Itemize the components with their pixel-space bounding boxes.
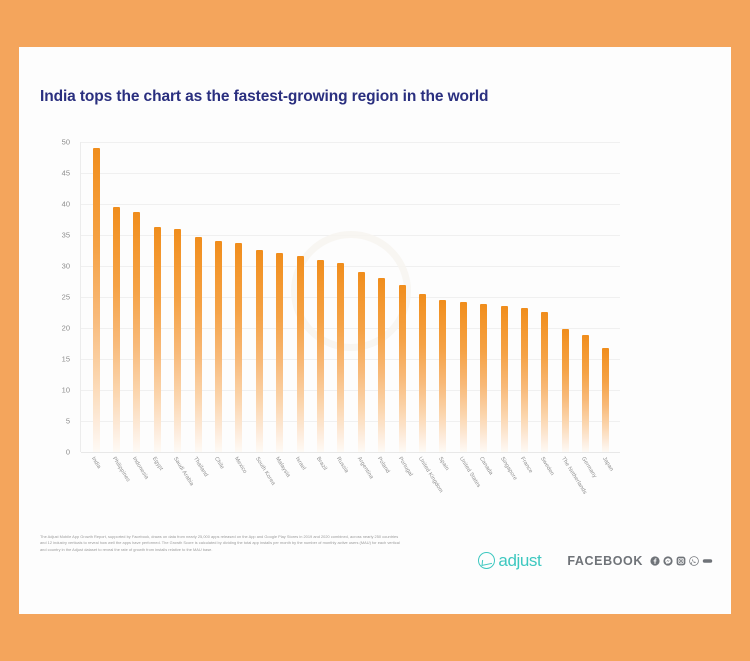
x-axis-tick-label: Japan <box>601 456 614 473</box>
adjust-logo-icon <box>478 552 495 569</box>
y-axis: 50454035302520151050 <box>40 142 76 452</box>
bar-slot <box>535 142 555 452</box>
bar-slot <box>147 142 167 452</box>
bar[interactable] <box>582 335 589 452</box>
bar-slot <box>433 142 453 452</box>
x-axis-label-slot: Chile <box>208 454 228 516</box>
x-axis-tick-label: France <box>519 456 534 474</box>
bar[interactable] <box>215 241 222 452</box>
y-axis-tick-label: 45 <box>62 169 70 178</box>
bar-slot <box>249 142 269 452</box>
x-axis-label-slot: Brazil <box>310 454 330 516</box>
y-axis-tick-label: 30 <box>62 262 70 271</box>
y-axis-tick-label: 15 <box>62 355 70 364</box>
bar-slot <box>86 142 106 452</box>
bar-slot <box>392 142 412 452</box>
facebook-logo: FACEBOOK <box>567 554 713 568</box>
x-axis-label-slot: Sweden <box>534 454 554 516</box>
x-axis-label-slot: Egypt <box>146 454 166 516</box>
bar-slot <box>453 142 473 452</box>
chart-plot-area: 50454035302520151050 IndiaPhilippinesInd… <box>40 142 620 472</box>
bar-slot <box>229 142 249 452</box>
x-axis-label-slot: Portugal <box>391 454 411 516</box>
x-axis-tick-label: Portugal <box>396 456 413 478</box>
x-axis-tick-label: Israel <box>294 456 307 471</box>
bar[interactable] <box>297 256 304 452</box>
bar[interactable] <box>602 348 609 452</box>
bar[interactable] <box>501 306 508 452</box>
facebook-wordmark: FACEBOOK <box>567 554 643 568</box>
bar[interactable] <box>480 304 487 452</box>
bar-slot <box>371 142 391 452</box>
x-axis-label-slot: Indonesia <box>126 454 146 516</box>
bar[interactable] <box>276 253 283 452</box>
bar[interactable] <box>317 260 324 452</box>
bar-slot <box>514 142 534 452</box>
x-axis-tick-label: Brazil <box>315 456 328 472</box>
whatsapp-icon <box>689 556 699 566</box>
facebook-icon <box>650 556 660 566</box>
bar-slot <box>331 142 351 452</box>
x-axis-label-slot: Thailand <box>187 454 207 516</box>
bar-slot <box>596 142 616 452</box>
y-axis-tick-label: 40 <box>62 200 70 209</box>
x-axis-tick-label: Canada <box>478 456 494 476</box>
bar-slot <box>168 142 188 452</box>
y-axis-tick-label: 50 <box>62 138 70 147</box>
adjust-wordmark: adjust <box>498 552 541 569</box>
x-axis-label-slot: Argentina <box>350 454 370 516</box>
bar-slot <box>127 142 147 452</box>
x-axis-label-slot: Russia <box>330 454 350 516</box>
x-axis-tick-label: Mexico <box>233 456 248 475</box>
gridline <box>81 452 620 453</box>
bar-slot <box>270 142 290 452</box>
brand-logos: adjust FACEBOOK <box>478 552 713 569</box>
x-axis-label-slot: United Kingdom <box>412 454 432 516</box>
bar-slot <box>290 142 310 452</box>
y-axis-tick-label: 25 <box>62 293 70 302</box>
bar[interactable] <box>541 312 548 452</box>
x-axis-tick-label: India <box>90 456 102 470</box>
page-title: India tops the chart as the fastest-grow… <box>40 88 488 106</box>
x-axis-tick-label: Sweden <box>539 456 555 477</box>
x-axis-tick-label: Spain <box>437 456 450 472</box>
x-axis-label-slot: Japan <box>596 454 616 516</box>
x-axis-label-slot: Germany <box>575 454 595 516</box>
bar[interactable] <box>256 250 263 452</box>
bar[interactable] <box>419 294 426 452</box>
footnote-text: The Adjust Mobile App Growth Report, sup… <box>40 534 400 553</box>
bar-slot <box>106 142 126 452</box>
x-axis-labels: IndiaPhilippinesIndonesiaEgyptSaudi Arab… <box>80 454 620 516</box>
x-axis-label-slot: Mexico <box>228 454 248 516</box>
instagram-icon <box>676 556 686 566</box>
x-axis-label-slot: Singapore <box>493 454 513 516</box>
bar-slot <box>208 142 228 452</box>
x-axis-label-slot: Canada <box>473 454 493 516</box>
bar-slot <box>494 142 514 452</box>
y-axis-tick-label: 20 <box>62 324 70 333</box>
x-axis-label-slot: Spain <box>432 454 452 516</box>
bar[interactable] <box>337 263 344 452</box>
bar[interactable] <box>154 227 161 452</box>
facebook-family-icons <box>650 556 713 566</box>
x-axis-label-slot: France <box>514 454 534 516</box>
x-axis-label-slot: Philippines <box>105 454 125 516</box>
y-axis-tick-label: 0 <box>66 448 70 457</box>
bar[interactable] <box>93 148 100 452</box>
bar[interactable] <box>521 308 528 452</box>
bar-slot <box>351 142 371 452</box>
bar[interactable] <box>439 300 446 452</box>
x-axis-label-slot: India <box>85 454 105 516</box>
bar[interactable] <box>358 272 365 452</box>
bar-slot <box>310 142 330 452</box>
x-axis-label-slot: Israel <box>289 454 309 516</box>
bar-slot <box>188 142 208 452</box>
y-axis-tick-label: 5 <box>66 417 70 426</box>
portal-icon <box>702 556 713 566</box>
x-axis-tick-label: Poland <box>376 456 391 474</box>
x-axis-tick-label: Egypt <box>151 456 164 472</box>
report-card: India tops the chart as the fastest-grow… <box>19 47 731 614</box>
bar[interactable] <box>133 212 140 452</box>
x-axis-label-slot: Poland <box>371 454 391 516</box>
bar-series <box>81 142 620 452</box>
x-axis-tick-label: Russia <box>335 456 349 474</box>
y-axis-tick-label: 35 <box>62 231 70 240</box>
chart-grid <box>80 142 620 452</box>
x-axis-label-slot: Saudi Arabia <box>167 454 187 516</box>
bar[interactable] <box>399 285 406 452</box>
x-axis-tick-label: Chile <box>213 456 225 470</box>
bar-slot <box>575 142 595 452</box>
messenger-icon <box>663 556 673 566</box>
bar[interactable] <box>562 329 569 452</box>
bar-slot <box>555 142 575 452</box>
bar-slot <box>412 142 432 452</box>
bar[interactable] <box>113 207 120 452</box>
bar[interactable] <box>460 302 467 452</box>
x-axis-label-slot: Malaysia <box>269 454 289 516</box>
bar[interactable] <box>195 237 202 452</box>
bar[interactable] <box>174 229 181 452</box>
x-axis-label-slot: United States <box>453 454 473 516</box>
bar-slot <box>473 142 493 452</box>
y-axis-tick-label: 10 <box>62 386 70 395</box>
x-axis-label-slot: The Netherlands <box>555 454 575 516</box>
bar[interactable] <box>235 243 242 452</box>
adjust-logo: adjust <box>478 552 541 569</box>
x-axis-label-slot: South Korea <box>248 454 268 516</box>
bar[interactable] <box>378 278 385 452</box>
